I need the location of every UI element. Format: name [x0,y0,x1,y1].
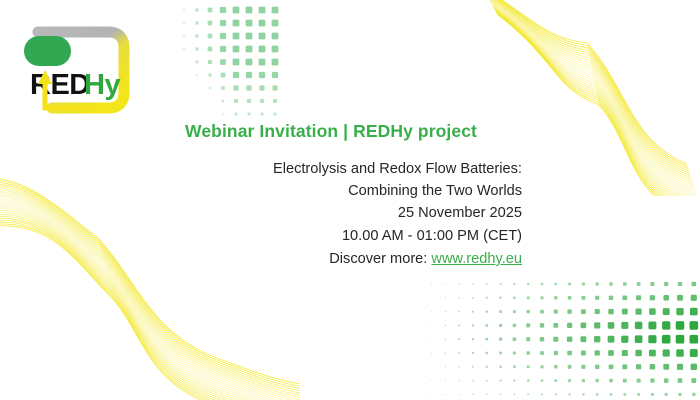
website-link[interactable]: www.redhy.eu [431,251,522,267]
halftone-dots-top [165,4,280,116]
discover-more-label: Discover more: [329,251,431,267]
detail-line-date: 25 November 2025 [140,202,522,224]
invitation-text-block: Webinar Invitation | REDHy project Elect… [140,120,522,270]
logo-wordmark-red: RED [30,69,90,101]
discover-more-line: Discover more: www.redhy.eu [140,248,522,270]
detail-line-time: 10.00 AM - 01:00 PM (CET) [140,225,522,247]
redhy-logo: RED Hy [12,18,142,122]
halftone-dots-bottom-right [398,278,700,400]
detail-line-subtitle: Combining the Two Worlds [140,180,522,202]
logo-green-blob [24,36,71,66]
detail-line-topic: Electrolysis and Redox Flow Batteries: [140,158,522,180]
page-title: Webinar Invitation | REDHy project [140,120,522,144]
webinar-invitation-poster: RED Hy Webinar Invitation | REDHy projec… [0,0,700,400]
logo-wordmark-hy: Hy [84,69,120,101]
